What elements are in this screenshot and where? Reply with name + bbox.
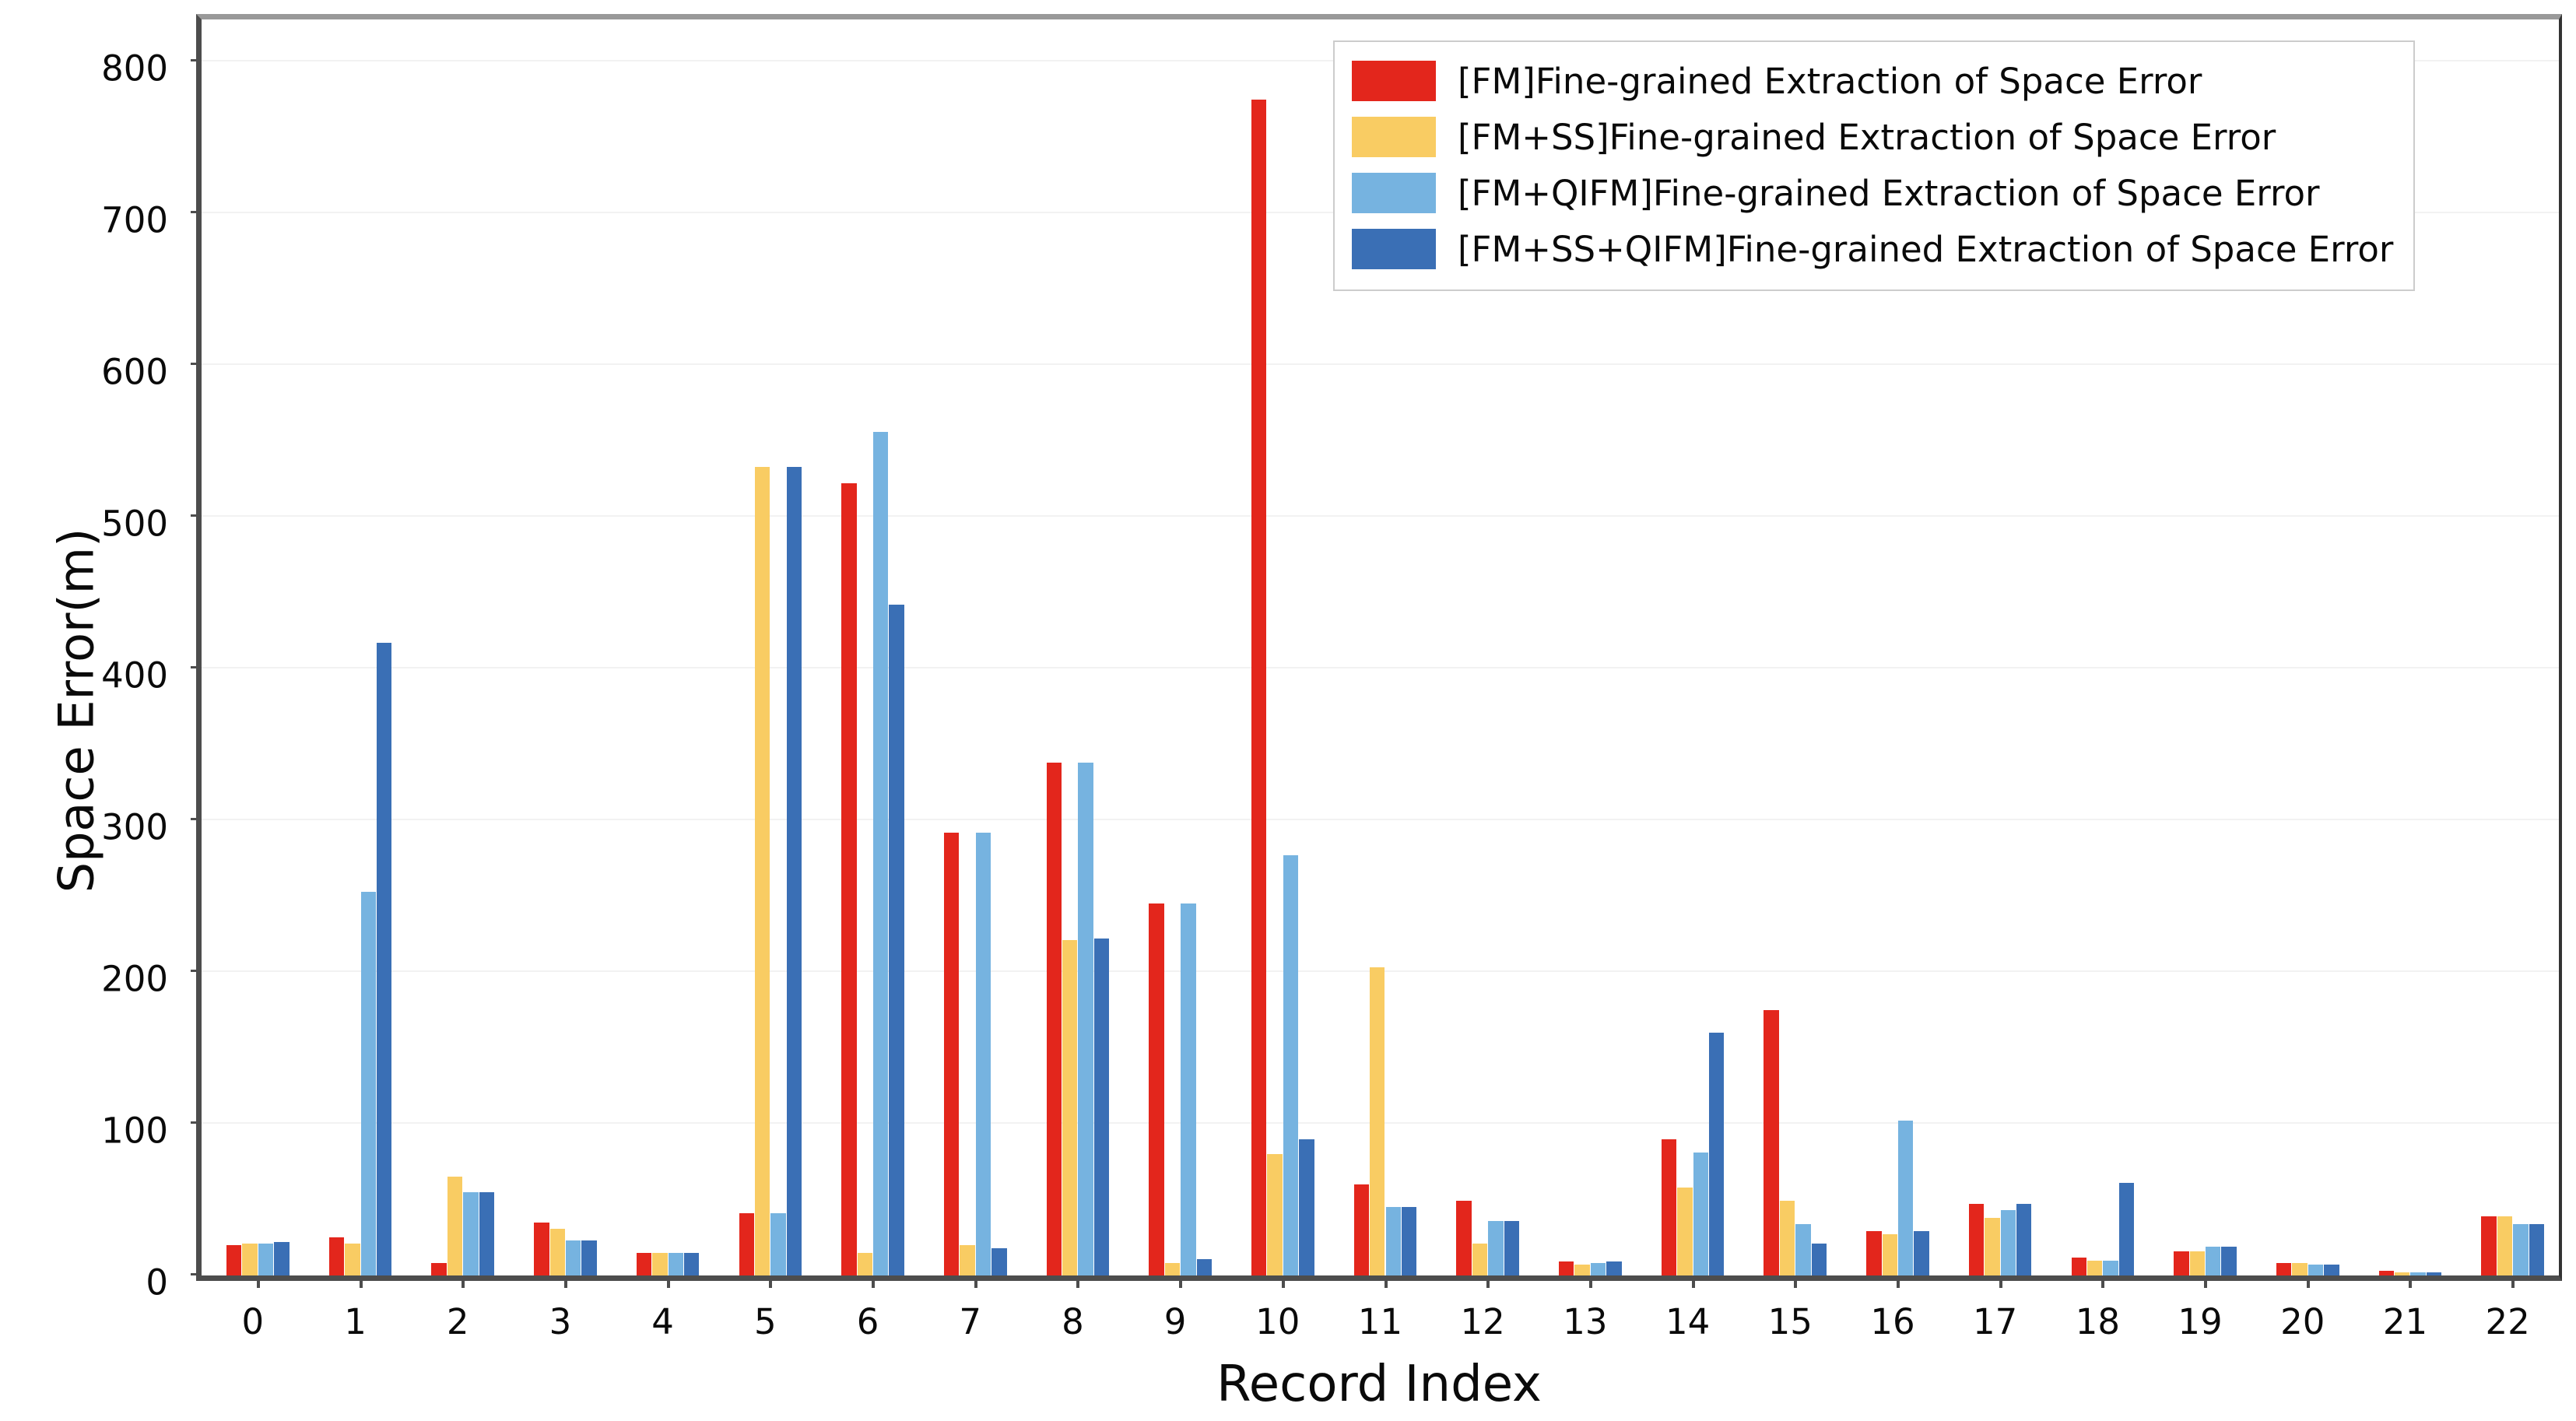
legend-color-swatch bbox=[1352, 117, 1436, 157]
x-tick-label: 0 bbox=[242, 1301, 265, 1342]
bar bbox=[550, 1229, 565, 1275]
bar bbox=[2395, 1272, 2409, 1275]
bar bbox=[1693, 1153, 1708, 1275]
y-tick-mark bbox=[191, 666, 202, 668]
x-tick-label: 2 bbox=[447, 1301, 469, 1342]
legend-item[interactable]: [FM+SS+QIFM]Fine-grained Extraction of S… bbox=[1352, 221, 2393, 277]
bar bbox=[944, 833, 959, 1275]
x-tick-label: 11 bbox=[1358, 1301, 1402, 1342]
bar bbox=[1149, 903, 1163, 1275]
bar bbox=[1251, 100, 1266, 1275]
x-tick-mark bbox=[564, 1275, 567, 1288]
y-tick-label: 800 bbox=[101, 48, 168, 89]
bar bbox=[566, 1240, 581, 1275]
x-tick-mark bbox=[2101, 1275, 2104, 1288]
bar bbox=[2103, 1261, 2118, 1275]
x-tick-mark bbox=[2511, 1275, 2515, 1288]
x-tick-label: 5 bbox=[754, 1301, 777, 1342]
bar bbox=[1181, 903, 1195, 1275]
bar bbox=[841, 483, 856, 1275]
bar bbox=[1165, 1263, 1180, 1275]
x-tick-mark bbox=[1692, 1275, 1695, 1288]
x-tick-label: 10 bbox=[1255, 1301, 1300, 1342]
bar bbox=[1709, 1033, 1724, 1275]
bar bbox=[2001, 1210, 2016, 1275]
bar bbox=[1662, 1139, 1676, 1275]
x-tick-mark bbox=[1589, 1275, 1592, 1288]
bar bbox=[345, 1244, 360, 1275]
x-tick-mark bbox=[462, 1275, 465, 1288]
bar bbox=[960, 1245, 974, 1275]
bar bbox=[361, 892, 376, 1275]
x-tick-mark bbox=[1282, 1275, 1285, 1288]
bar bbox=[1866, 1231, 1881, 1275]
bar bbox=[2016, 1204, 2031, 1275]
x-tick-label: 9 bbox=[1164, 1301, 1187, 1342]
x-tick-label: 15 bbox=[1768, 1301, 1813, 1342]
x-tick-mark bbox=[2409, 1275, 2412, 1288]
x-tick-mark bbox=[1897, 1275, 1900, 1288]
x-tick-label: 22 bbox=[2486, 1301, 2530, 1342]
bar bbox=[1047, 763, 1062, 1275]
gridline bbox=[202, 667, 2559, 668]
y-tick-label: 300 bbox=[101, 807, 168, 848]
bar bbox=[1078, 763, 1093, 1275]
figure-canvas: Space Error(m) 0100200300400500600700800… bbox=[0, 0, 2576, 1421]
y-tick-mark bbox=[191, 970, 202, 972]
x-tick-label: 14 bbox=[1665, 1301, 1710, 1342]
gridline bbox=[202, 515, 2559, 517]
y-tick-label: 700 bbox=[101, 200, 168, 241]
bar bbox=[226, 1245, 241, 1275]
bar bbox=[2379, 1271, 2394, 1275]
bar bbox=[431, 1263, 446, 1275]
bar bbox=[1559, 1261, 1574, 1275]
bar bbox=[1969, 1204, 1984, 1275]
legend-color-swatch bbox=[1352, 229, 1436, 269]
legend-item-label: [FM+QIFM]Fine-grained Extraction of Spac… bbox=[1458, 176, 2320, 211]
bar bbox=[463, 1192, 478, 1275]
x-tick-mark bbox=[974, 1275, 977, 1288]
x-tick-mark bbox=[1385, 1275, 1388, 1288]
bar bbox=[2190, 1251, 2205, 1275]
y-tick-label: 500 bbox=[101, 503, 168, 545]
bar bbox=[1883, 1234, 1897, 1275]
bar bbox=[2308, 1265, 2323, 1275]
bar bbox=[1386, 1207, 1401, 1275]
bar bbox=[976, 833, 991, 1275]
y-tick-mark bbox=[191, 1121, 202, 1124]
bar bbox=[1606, 1261, 1621, 1275]
bar bbox=[739, 1213, 754, 1275]
bar bbox=[684, 1253, 699, 1275]
y-axis-tick-labels: 0100200300400500600700800 bbox=[0, 14, 185, 1281]
y-tick-mark bbox=[191, 818, 202, 820]
gridline bbox=[202, 363, 2559, 365]
x-tick-label: 7 bbox=[959, 1301, 981, 1342]
y-tick-label: 0 bbox=[146, 1262, 168, 1303]
legend: [FM]Fine-grained Extraction of Space Err… bbox=[1333, 40, 2415, 291]
bar bbox=[991, 1248, 1006, 1275]
x-tick-label: 19 bbox=[2178, 1301, 2222, 1342]
bar bbox=[1472, 1244, 1487, 1275]
x-tick-label: 4 bbox=[651, 1301, 674, 1342]
x-tick-mark bbox=[769, 1275, 772, 1288]
x-tick-mark bbox=[1794, 1275, 1797, 1288]
y-tick-mark bbox=[191, 363, 202, 365]
bar bbox=[581, 1240, 596, 1275]
x-tick-mark bbox=[667, 1275, 670, 1288]
bar bbox=[1062, 940, 1077, 1275]
bar bbox=[1197, 1259, 1212, 1275]
bar bbox=[1370, 967, 1385, 1275]
bar bbox=[258, 1244, 273, 1275]
bar bbox=[2174, 1251, 2188, 1275]
bar bbox=[1456, 1201, 1471, 1275]
bar bbox=[274, 1242, 289, 1275]
bar bbox=[447, 1177, 462, 1275]
bar bbox=[652, 1253, 667, 1275]
x-tick-mark bbox=[872, 1275, 875, 1288]
x-tick-mark bbox=[1999, 1275, 2002, 1288]
bar bbox=[755, 467, 770, 1275]
y-tick-mark bbox=[191, 211, 202, 213]
bar bbox=[2206, 1247, 2220, 1275]
y-tick-mark bbox=[191, 514, 202, 517]
bar bbox=[2087, 1261, 2102, 1275]
legend-item-label: [FM+SS+QIFM]Fine-grained Extraction of S… bbox=[1458, 232, 2393, 267]
bar bbox=[329, 1237, 344, 1275]
x-tick-label: 20 bbox=[2280, 1301, 2325, 1342]
bar bbox=[2324, 1265, 2339, 1275]
x-tick-label: 1 bbox=[344, 1301, 367, 1342]
bar bbox=[1299, 1139, 1314, 1275]
bar bbox=[2529, 1224, 2544, 1275]
x-tick-mark bbox=[1076, 1275, 1079, 1288]
legend-item-label: [FM]Fine-grained Extraction of Space Err… bbox=[1458, 64, 2202, 99]
x-tick-mark bbox=[1179, 1275, 1182, 1288]
bar bbox=[858, 1253, 872, 1275]
bar bbox=[1795, 1224, 1810, 1275]
bar bbox=[1488, 1221, 1503, 1275]
y-tick-mark bbox=[191, 1273, 202, 1275]
bar bbox=[377, 643, 391, 1275]
bar bbox=[2292, 1263, 2307, 1275]
bar bbox=[1283, 855, 1298, 1275]
x-tick-mark bbox=[2204, 1275, 2207, 1288]
x-tick-label: 8 bbox=[1062, 1301, 1084, 1342]
legend-item[interactable]: [FM+SS]Fine-grained Extraction of Space … bbox=[1352, 109, 2393, 165]
legend-color-swatch bbox=[1352, 61, 1436, 101]
bar bbox=[2513, 1224, 2528, 1275]
legend-item-label: [FM+SS]Fine-grained Extraction of Space … bbox=[1458, 120, 2276, 155]
bar bbox=[1094, 939, 1109, 1275]
x-tick-mark bbox=[2307, 1275, 2310, 1288]
y-tick-mark bbox=[191, 59, 202, 61]
x-tick-label: 18 bbox=[2076, 1301, 2120, 1342]
bar bbox=[2427, 1272, 2441, 1275]
bar bbox=[669, 1253, 683, 1275]
x-tick-label: 13 bbox=[1563, 1301, 1607, 1342]
bar bbox=[1574, 1265, 1589, 1275]
x-tick-mark bbox=[360, 1275, 363, 1288]
bar bbox=[1898, 1121, 1913, 1275]
bar bbox=[1402, 1207, 1416, 1275]
y-tick-label: 200 bbox=[101, 959, 168, 1000]
bar bbox=[1354, 1184, 1369, 1275]
x-tick-label: 21 bbox=[2383, 1301, 2427, 1342]
bar bbox=[2481, 1216, 2496, 1275]
bar bbox=[1764, 1010, 1778, 1275]
x-tick-label: 3 bbox=[549, 1301, 572, 1342]
x-axis-title: Record Index bbox=[196, 1356, 2562, 1413]
bar bbox=[1985, 1218, 1999, 1275]
y-tick-label: 600 bbox=[101, 352, 168, 393]
bar bbox=[1591, 1263, 1606, 1275]
legend-item[interactable]: [FM+QIFM]Fine-grained Extraction of Spac… bbox=[1352, 165, 2393, 221]
y-tick-label: 100 bbox=[101, 1110, 168, 1152]
x-tick-label: 16 bbox=[1870, 1301, 1914, 1342]
bar bbox=[2497, 1216, 2512, 1275]
bar bbox=[242, 1244, 257, 1275]
x-tick-mark bbox=[1486, 1275, 1490, 1288]
bar bbox=[1677, 1188, 1692, 1275]
x-tick-label: 12 bbox=[1461, 1301, 1505, 1342]
legend-item[interactable]: [FM]Fine-grained Extraction of Space Err… bbox=[1352, 53, 2393, 109]
bar bbox=[873, 432, 888, 1275]
bar bbox=[1914, 1231, 1928, 1275]
x-tick-label: 6 bbox=[857, 1301, 879, 1342]
bar bbox=[770, 1213, 785, 1275]
gridline bbox=[202, 819, 2559, 820]
bar bbox=[2276, 1263, 2291, 1275]
bar bbox=[1267, 1154, 1282, 1275]
bar bbox=[2410, 1272, 2425, 1275]
bar bbox=[2221, 1247, 2236, 1275]
bar bbox=[534, 1223, 549, 1275]
legend-color-swatch bbox=[1352, 173, 1436, 213]
bar bbox=[1780, 1201, 1795, 1275]
y-tick-label: 400 bbox=[101, 655, 168, 696]
bar bbox=[479, 1192, 494, 1275]
bar bbox=[1812, 1244, 1827, 1275]
x-tick-label: 17 bbox=[1973, 1301, 2017, 1342]
bar bbox=[787, 467, 802, 1275]
bar bbox=[2119, 1183, 2134, 1275]
bar bbox=[889, 605, 904, 1275]
bar bbox=[1504, 1221, 1519, 1275]
bar bbox=[637, 1253, 651, 1275]
bar bbox=[2072, 1258, 2086, 1275]
x-tick-mark bbox=[257, 1275, 260, 1288]
